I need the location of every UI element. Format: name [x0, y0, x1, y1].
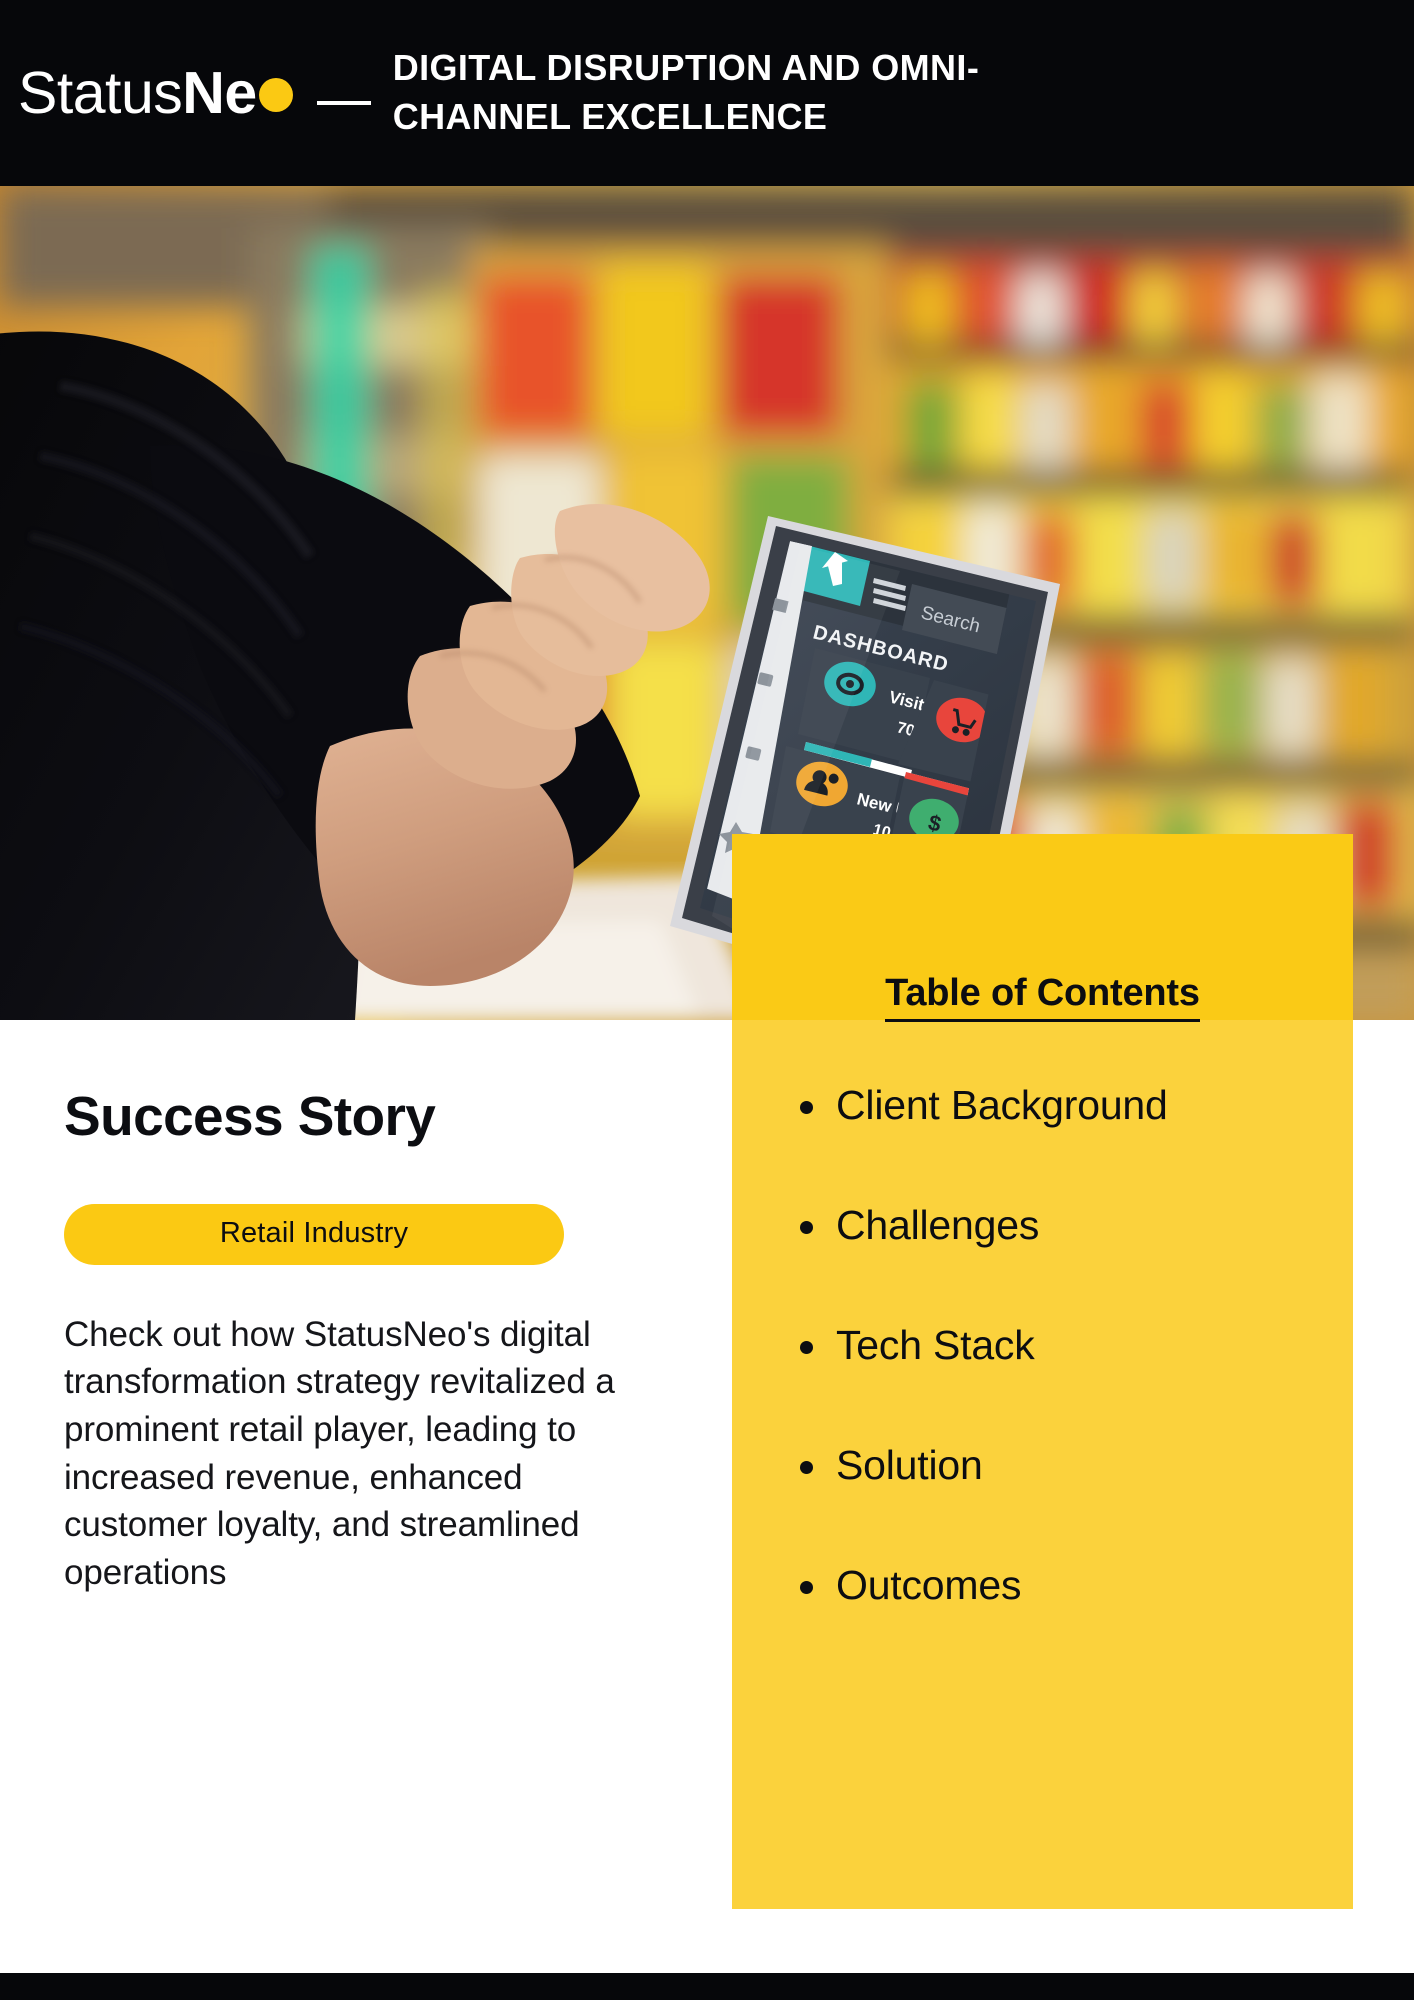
- toc-item-label: Outcomes: [836, 1562, 1021, 1608]
- slide-page: StatusNe DIGITAL DISRUPTION AND OMNI-CHA…: [0, 0, 1414, 2000]
- toc-item-label: Tech Stack: [836, 1322, 1035, 1368]
- description-text: Check out how StatusNeo's digital transf…: [64, 1311, 664, 1597]
- left-content-column: Success Story Retail Industry Check out …: [64, 1088, 684, 1596]
- list-item[interactable]: Tech Stack: [836, 1323, 1353, 1368]
- logo-bold-part: Ne: [182, 64, 256, 123]
- horizontal-dash-icon: [317, 101, 371, 105]
- toc-item-label: Challenges: [836, 1202, 1039, 1248]
- toc-item-label: Client Background: [836, 1082, 1168, 1128]
- toc-item-label: Solution: [836, 1442, 983, 1488]
- bullet-icon: [800, 1101, 813, 1114]
- logo-text: StatusNe: [18, 64, 293, 123]
- toc-heading-text: Table of Contents: [885, 972, 1200, 1022]
- table-of-contents: Table of Contents Client Background Chal…: [732, 834, 1353, 1909]
- logo-light-part: Status: [18, 64, 182, 123]
- industry-badge: Retail Industry: [64, 1204, 564, 1265]
- brand-logo[interactable]: StatusNe: [18, 64, 393, 123]
- page-title: DIGITAL DISRUPTION AND OMNI-CHANNEL EXCE…: [393, 44, 1033, 141]
- list-item[interactable]: Outcomes: [836, 1563, 1353, 1608]
- toc-heading: Table of Contents: [732, 972, 1353, 1015]
- bullet-icon: [800, 1221, 813, 1234]
- toc-list: Client Background Challenges Tech Stack …: [732, 1083, 1353, 1608]
- list-item[interactable]: Solution: [836, 1443, 1353, 1488]
- page-footer-bar: [0, 1973, 1414, 2000]
- yellow-dot-icon: [259, 78, 293, 112]
- list-item[interactable]: Client Background: [836, 1083, 1353, 1128]
- bullet-icon: [800, 1461, 813, 1474]
- list-item[interactable]: Challenges: [836, 1203, 1353, 1248]
- bullet-icon: [800, 1581, 813, 1594]
- section-title: Success Story: [64, 1088, 684, 1146]
- bullet-icon: [800, 1341, 813, 1354]
- page-header: StatusNe DIGITAL DISRUPTION AND OMNI-CHA…: [0, 0, 1414, 186]
